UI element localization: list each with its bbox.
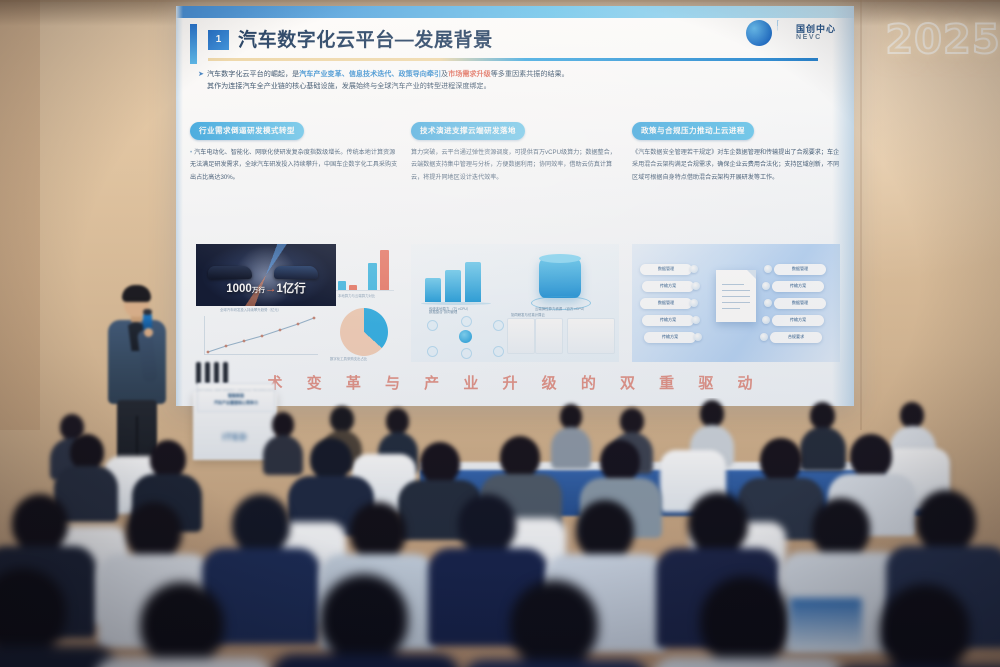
mic-stand-icon	[223, 362, 228, 384]
audience-head	[900, 402, 924, 428]
pill-left-3: 数据管理	[640, 298, 692, 309]
column-2-text: 算力突破，云平台通过弹性资源调度，可提供百万vCPU级算力；数据整合，云端数据支…	[411, 149, 616, 180]
document-icon	[716, 270, 756, 322]
audience-head	[810, 402, 835, 429]
audience-head	[350, 502, 406, 560]
bar-item	[338, 281, 346, 290]
line-chart-series	[206, 316, 318, 354]
title-underline	[208, 58, 818, 61]
audience-head	[576, 500, 634, 560]
audience-head	[916, 490, 976, 552]
node-icon	[493, 346, 504, 357]
column-3-text: 《汽车数据安全管理若干规定》对车企数据管理和传输提出了合规要求；车企采用混合云架…	[632, 149, 839, 180]
wall-seam	[860, 0, 862, 430]
audience-head	[70, 434, 104, 470]
bar3d-item	[465, 262, 481, 302]
bar-chart-x-axis	[336, 290, 394, 291]
audience-head	[600, 440, 640, 482]
photo-card	[567, 318, 615, 354]
photo-card	[535, 318, 563, 354]
slide-title: 汽车数字化云平台—发展背景	[238, 26, 493, 57]
column-3-body: 《汽车数据安全管理若干规定》对车企数据管理和传输提出了合规要求；车企采用混合云架…	[632, 147, 840, 184]
shield-icon	[762, 316, 770, 324]
audience-head	[330, 406, 354, 432]
bar3d-item	[445, 270, 461, 302]
key-icon	[764, 265, 772, 273]
column-2: 技术演进支撑云端研发落地 算力突破，云平台通过弹性资源调度，可提供百万vCPU级…	[411, 122, 619, 184]
audience-area	[0, 398, 1000, 667]
column-1-text: 汽车电动化、智能化、网联化使研发复杂度指数级增长。传统本地计算资源无法满足研发需…	[190, 149, 397, 180]
audience-head	[232, 494, 290, 554]
logo-cn-text: 国创中心	[796, 25, 836, 34]
audience-head	[760, 438, 802, 482]
audience-head	[420, 442, 460, 484]
car-silhouette-icon	[208, 266, 252, 279]
bar3d-item	[425, 278, 441, 302]
presentation-slide: 1 汽车数字化云平台—发展背景 国创中心 NEVC ➤汽车数字化云平台的崛起，是…	[176, 6, 854, 406]
hero-text: 1000万行→1亿行	[196, 280, 336, 299]
car-silhouette-icon	[274, 266, 318, 279]
wall-seam-top	[0, 0, 1000, 2]
audience-shoulders	[800, 427, 846, 471]
microphone-head	[143, 309, 152, 315]
line-chart-caption: 全球汽车研发投入持续攀升趋势（亿元）	[220, 308, 281, 314]
hero-arrow-icon: →	[265, 283, 277, 295]
hero-left-unit: 万行	[252, 287, 265, 294]
column-2-heading: 技术演进支撑云端研发落地	[411, 122, 525, 140]
logo-rays-icon	[764, 20, 790, 46]
audience-head	[620, 408, 644, 434]
doc-line	[722, 284, 744, 285]
lock-icon	[764, 299, 772, 307]
audience-head	[880, 584, 970, 667]
audience-head	[688, 492, 748, 554]
pill-right-3: 数据管理	[774, 298, 826, 309]
audience-head	[500, 436, 540, 478]
column-1: 行业需求倒逼研发模式转型 •汽车电动化、智能化、网联化使研发复杂度指数级增长。传…	[190, 122, 398, 184]
bar-chart-caption: 本地算力与云端算力对比	[338, 294, 375, 300]
conference-photo-stage: 2025 1 汽车数字化云平台—发展背景 国创中心 NEVC ➤汽车数字化云平台…	[0, 0, 1000, 667]
panel-3-diagram: 数据管理 传输方案 数据管理 传输方案 传输方案 数据管理 传输方案 数据管理	[632, 244, 840, 362]
lead-line1-hl1: 汽车产业变革、信息技术迭代、政策导向牵引	[299, 70, 441, 78]
doc-line	[722, 302, 750, 303]
cylinder-top	[539, 254, 581, 263]
mic-stand-icon	[214, 362, 219, 384]
lead-line1-a: 汽车数字化云平台的崛起，是	[207, 70, 299, 78]
audience-head	[510, 580, 598, 667]
panel-2-caption-right: 云端弹性算力资源 （百万 vCPU）	[535, 307, 586, 313]
pill-right-1: 数据管理	[774, 264, 826, 275]
audience-head	[700, 400, 724, 427]
audience-head	[310, 438, 352, 480]
pill-right-4: 传输方案	[772, 315, 824, 326]
mic-stand-icon	[196, 362, 201, 384]
node-network-graphic	[425, 316, 505, 356]
pill-left-4: 传输方案	[642, 315, 694, 326]
audience-head	[126, 502, 182, 560]
doc-line	[722, 308, 740, 309]
bullet-icon: ➤	[198, 70, 204, 78]
slide-top-bar	[176, 6, 854, 18]
line-chart-x-axis	[204, 354, 318, 355]
node-icon	[493, 320, 504, 331]
bar-chart: 本地算力与云端算力对比	[336, 248, 396, 298]
slide-footer-text: 术 变 革 与 产 业 升 级 的 双 重 驱 动	[267, 375, 762, 392]
lock-icon	[762, 282, 770, 290]
audience-head	[272, 412, 294, 437]
audience-shoulders	[551, 427, 591, 469]
audience-head	[700, 576, 790, 666]
column-2-body: 算力突破，云平台通过弹性资源调度，可提供百万vCPU级算力；数据整合，云端数据支…	[411, 147, 619, 184]
logo-en-text: NEVC	[796, 34, 836, 41]
line-chart	[196, 314, 324, 360]
lead-line1-hl2: 市场需求升级	[448, 70, 491, 78]
doc-line	[722, 296, 750, 297]
node-center-icon	[459, 330, 472, 343]
audience-head	[320, 574, 408, 662]
node-icon	[461, 316, 472, 327]
pill-right-2: 传输方案	[772, 281, 824, 292]
key-icon	[692, 282, 700, 290]
bullet-icon: •	[190, 149, 192, 156]
audience-shoulders	[272, 654, 460, 667]
lead-line2: 其作为连接汽车全产业链的核心基础设施，发展始终与全球汽车产业的转型进程深度绑定。	[207, 80, 828, 92]
column-3: 政策与合规压力推动上云进程 《汽车数据安全管理若干规定》对车企数据管理和传输提出…	[632, 122, 840, 184]
mic-stand-icon	[205, 362, 210, 384]
bar-item	[380, 250, 389, 290]
pie-chart-caption: 数字化工具采购支出占比	[330, 357, 367, 362]
panel-2-caption-net: 数据整合·协同管理	[429, 310, 457, 316]
node-icon	[427, 346, 438, 357]
pill-left-2: 传输方案	[642, 281, 694, 292]
column-1-heading: 行业需求倒逼研发模式转型	[190, 122, 304, 140]
audience-head	[386, 408, 409, 434]
nevc-logo: 国创中心 NEVC	[746, 20, 836, 46]
tablet-screen	[790, 598, 862, 650]
pill-left-5: 传输方案	[644, 332, 696, 343]
node-icon	[427, 320, 438, 331]
year-sign-text: 2025	[885, 17, 1000, 63]
audience-shoulders	[0, 646, 116, 667]
audience-head	[150, 440, 186, 478]
pie-chart	[340, 308, 388, 356]
slide-columns: 行业需求倒逼研发模式转型 •汽车电动化、智能化、网联化使研发复杂度指数级增长。传…	[190, 122, 840, 184]
slide-graphic-panels: 1000万行→1亿行 全球汽车研发投入持续攀升趋势（亿元）	[190, 244, 840, 362]
hero-right-number: 1亿行	[276, 283, 305, 295]
bar-item	[368, 263, 377, 290]
screen-edge-right	[832, 6, 854, 406]
column-3-heading: 政策与合规压力推动上云进程	[632, 122, 754, 140]
pill-left-1: 数据管理	[640, 264, 692, 275]
audience-shoulders	[462, 660, 650, 667]
screen-edge-left	[176, 6, 183, 406]
logo-text-block: 国创中心 NEVC	[796, 25, 836, 42]
slide-accent-bar	[190, 24, 197, 64]
audience-shoulders	[652, 658, 844, 667]
slide-footer-banner: 术 变 革 与 产 业 升 级 的 双 重 驱 动	[176, 372, 854, 396]
presenter-hand	[144, 328, 153, 337]
podium-sign-subtitle: NATIONAL NEW ENERGY VEHICLE TECHNOLOGY	[198, 389, 275, 392]
wall-left-panel	[0, 0, 40, 430]
shield-icon	[692, 316, 700, 324]
audience-head	[560, 404, 582, 429]
audience-head	[850, 434, 892, 478]
panel-1-charts: 1000万行→1亿行 全球汽车研发投入持续攀升趋势（亿元）	[190, 244, 398, 362]
section-number-badge: 1	[208, 30, 229, 50]
glasses-icon	[125, 298, 148, 304]
audience-shoulders	[94, 658, 274, 667]
pill-right-5: 合规要求	[770, 332, 822, 343]
lock-icon	[760, 333, 768, 341]
microphone-stands	[196, 362, 236, 384]
column-1-body: •汽车电动化、智能化、网联化使研发复杂度指数级增长。传统本地计算资源无法满足研发…	[190, 147, 398, 184]
slide-lead-paragraph: ➤汽车数字化云平台的崛起，是汽车产业变革、信息技术迭代、政策导向牵引及市场需求升…	[198, 68, 828, 93]
photo-card	[507, 318, 535, 354]
node-icon	[461, 348, 472, 359]
hero-left-number: 1000	[226, 283, 252, 295]
line-chart-y-axis	[204, 316, 205, 354]
panel-2-caption-right2: 协同研发与仿真计算云	[511, 313, 545, 319]
hero-image-cars: 1000万行→1亿行	[196, 244, 336, 306]
audience-head	[12, 494, 68, 552]
audience-head	[140, 582, 224, 666]
lead-line1-c: 等多重因素共振的结果。	[491, 70, 569, 78]
cylinder-graphic	[539, 258, 581, 298]
lock-icon	[690, 299, 698, 307]
panel-2-infographic: 传统本地算力 （万 vCPU） 云端弹性算力资源 （百万 vCPU）	[411, 244, 619, 362]
audience-shoulders	[263, 435, 303, 475]
lock-icon	[694, 333, 702, 341]
bar3d-shadow	[421, 302, 491, 305]
year-sign-2025: 2025	[893, 14, 993, 66]
projection-screen: 1 汽车数字化云平台—发展背景 国创中心 NEVC ➤汽车数字化云平台的崛起，是…	[176, 6, 854, 406]
doc-line	[722, 290, 750, 291]
audience-head	[812, 498, 870, 558]
lock-icon	[690, 265, 698, 273]
audience-head	[458, 494, 516, 554]
